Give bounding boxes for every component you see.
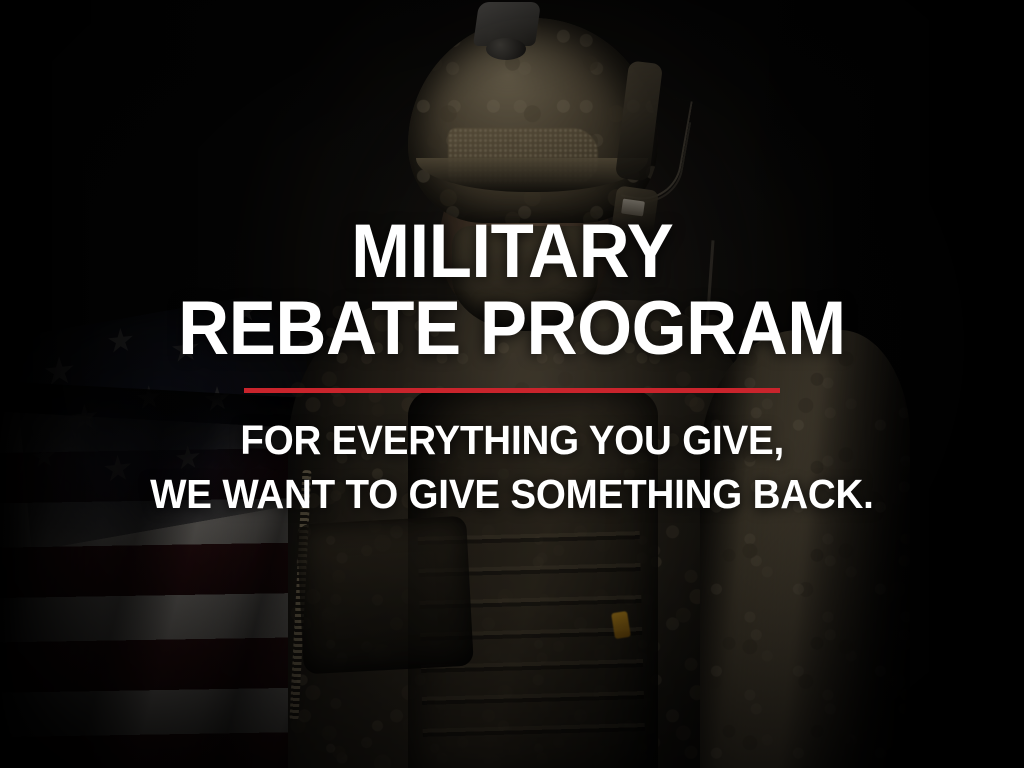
text-overlay: MILITARY REBATE PROGRAM FOR EVERYTHING Y… [0, 0, 1024, 768]
subheadline-line-2: WE WANT TO GIVE SOMETHING BACK. [150, 474, 874, 515]
headline-line-2: REBATE PROGRAM [178, 293, 846, 366]
red-divider-rule [244, 388, 780, 393]
poster-canvas: MILITARY REBATE PROGRAM FOR EVERYTHING Y… [0, 0, 1024, 768]
headline-line-1: MILITARY [351, 216, 673, 289]
subheadline-line-1: FOR EVERYTHING YOU GIVE, [240, 420, 784, 461]
